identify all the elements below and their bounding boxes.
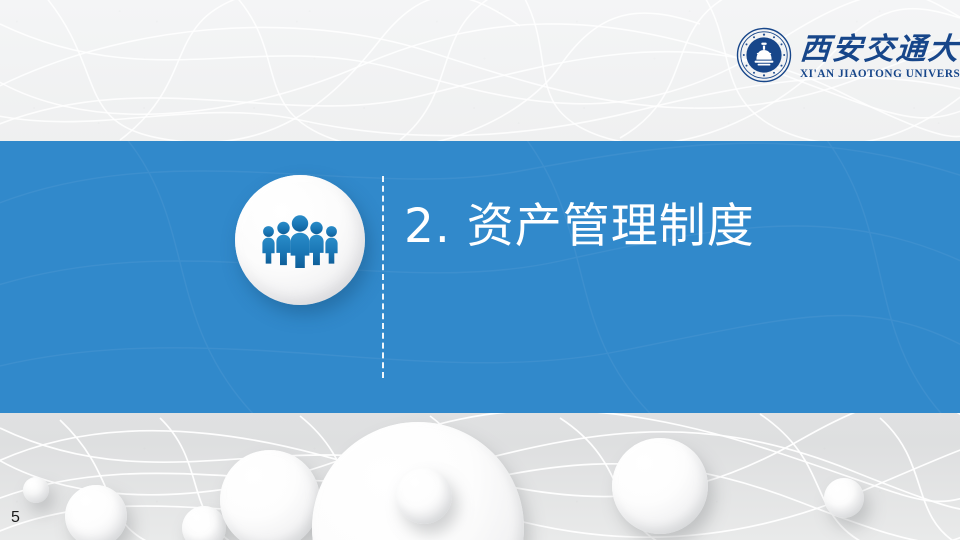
people-group-icon-disc [235, 175, 365, 305]
band-texture-overlay [0, 141, 960, 413]
people-group-icon [261, 212, 339, 268]
page-number: 5 [11, 509, 20, 527]
section-blue-band [0, 141, 960, 413]
logo-chinese-name: 西安交通大学 [799, 33, 960, 67]
logo-english-name: XI'AN JIAOTONG UNIVERSITY [800, 68, 960, 81]
page-title: 2. 资产管理制度 [404, 196, 755, 258]
university-logo: 西安交通大学 XI'AN JIAOTONG UNIVERSITY [736, 26, 948, 88]
presentation-slide: 2. 资产管理制度 [0, 0, 960, 540]
logo-wordmark: 西安交通大学 XI'AN JIAOTONG UNIVERSITY [800, 33, 960, 81]
title-dashed-divider [382, 176, 384, 378]
xjtu-seal-icon [736, 27, 792, 88]
